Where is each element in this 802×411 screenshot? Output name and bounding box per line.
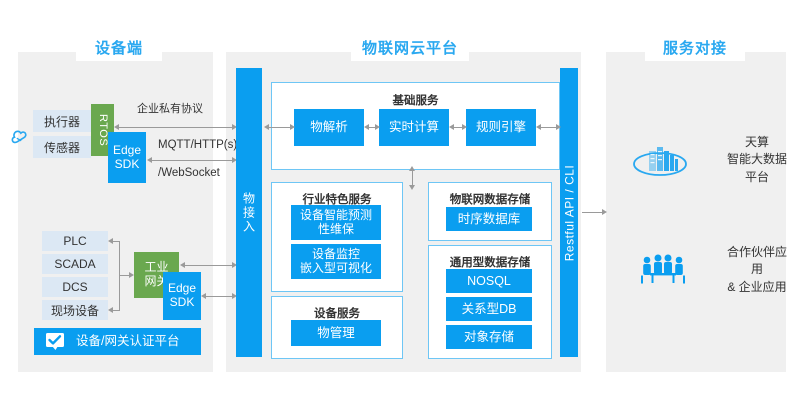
field-bracket-dev-arrow <box>108 307 113 313</box>
field-item-dcs: DCS <box>42 277 108 297</box>
general-storage-item-object: 对象存储 <box>446 325 532 349</box>
api-to-service-line <box>582 212 602 213</box>
service-entry-partners-line1: 合作伙伴应用 <box>722 244 792 279</box>
bs-arrow-2-right <box>462 124 467 130</box>
private-arrow-left <box>114 124 119 130</box>
bs-line-api <box>540 127 556 128</box>
industry-item-monitoring: 设备监控 嵌入型可视化 <box>291 244 381 279</box>
edge-sdk-top-box: Edge SDK <box>108 132 146 183</box>
bs-arrow-api-left <box>536 124 541 130</box>
auth-platform-label: 设备/网关认证平台 <box>76 334 179 348</box>
field-item-plc: PLC <box>42 231 108 251</box>
bigdata-platform-icon <box>632 142 688 180</box>
api-to-service-arrow <box>602 209 607 215</box>
field-bracket-dev-line <box>112 310 119 311</box>
protocol-mqtt-text: MQTT/HTTP(s) <box>158 139 237 151</box>
service-panel <box>606 52 786 372</box>
access-bar-label: 物接入 <box>241 192 258 234</box>
platform-panel-title: 物联网云平台 <box>351 33 469 61</box>
gateway-line-upper <box>185 265 232 266</box>
gateway-arrow-upper-left <box>180 262 185 268</box>
general-storage-title: 通用型数据存储 <box>429 254 551 270</box>
api-bar-label: Restful API / CLI <box>562 164 576 261</box>
mqtt-protocol-line <box>152 160 232 161</box>
iot-storage-title: 物联网数据存储 <box>429 191 551 207</box>
service-entry-partners-text: 合作伙伴应用 & 企业应用 <box>722 244 792 296</box>
bs-arrow-access-left <box>264 124 269 130</box>
diagram-canvas: 设备端 物联网云平台 服务对接 执行器 传感器 RTOS Edge SDK 企业… <box>0 0 802 411</box>
field-bracket-plc-arrow <box>108 238 113 244</box>
edge-sdk-top-label: Edge SDK <box>113 144 141 172</box>
cloud-icon <box>8 126 32 148</box>
field-item-scada: SCADA <box>42 254 108 274</box>
bs-to-lower-arrow-down <box>409 185 415 190</box>
device-service-item-thing-mgmt: 物管理 <box>291 320 381 346</box>
basic-service-item-rules: 规则引擎 <box>466 109 536 146</box>
bs-arrow-1-right <box>375 124 380 130</box>
gateway-line-lower <box>206 296 232 297</box>
service-entry-bigdata-line1: 天算 <box>722 134 792 151</box>
general-storage-item-rdb: 关系型DB <box>446 297 532 321</box>
device-service-title: 设备服务 <box>272 305 402 321</box>
private-protocol-line <box>119 127 232 128</box>
bs-arrow-2-left <box>449 124 454 130</box>
service-entry-bigdata-line2: 智能大数据平台 <box>722 151 792 186</box>
partners-icon <box>638 252 688 286</box>
service-entry-partners: 合作伙伴应用 & 企业应用 <box>632 248 792 292</box>
edge-sdk-bottom-box: Edge SDK <box>163 272 201 320</box>
bs-line-access <box>268 127 290 128</box>
rtos-label: RTOS <box>96 114 109 146</box>
service-entry-partners-line2: & 企业应用 <box>722 279 792 296</box>
api-bar: Restful API / CLI <box>560 68 578 357</box>
field-to-gateway-line <box>119 275 129 276</box>
basic-service-item-realtime: 实时计算 <box>379 109 449 146</box>
iot-storage-item-tsdb: 时序数据库 <box>446 207 532 231</box>
bs-arrow-api-right <box>556 124 561 130</box>
field-bracket-vline <box>119 241 120 311</box>
auth-platform-bar: 设备/网关认证平台 <box>34 328 201 355</box>
industry-item-predictive: 设备智能预测 性维保 <box>291 205 381 240</box>
basic-service-title: 基础服务 <box>272 92 559 108</box>
service-entry-bigdata-text: 天算 智能大数据平台 <box>722 134 792 186</box>
sensor-label: 传感器 <box>33 136 91 158</box>
industry-item-predictive-label: 设备智能预测 性维保 <box>300 209 372 237</box>
actuator-label: 执行器 <box>33 110 91 132</box>
industry-item-monitoring-label: 设备监控 嵌入型可视化 <box>300 248 372 276</box>
bs-arrow-access-right <box>290 124 295 130</box>
access-bar: 物接入 <box>236 68 262 357</box>
protocol-private-text: 企业私有协议 <box>137 100 203 116</box>
bs-to-lower-line <box>412 170 413 185</box>
service-entry-bigdata: 天算 智能大数据平台 <box>632 138 792 182</box>
mqtt-arrow-left <box>147 157 152 163</box>
bs-to-lower-arrow-up <box>409 166 415 171</box>
check-icon <box>46 333 64 350</box>
edge-sdk-bottom-label: Edge SDK <box>168 282 196 310</box>
service-panel-title: 服务对接 <box>645 33 745 61</box>
general-storage-item-nosql: NOSQL <box>446 269 532 293</box>
bs-arrow-1-left <box>364 124 369 130</box>
protocol-ws-text: /WebSocket <box>158 167 220 179</box>
basic-service-item-parse: 物解析 <box>294 109 364 146</box>
field-item-field-device: 现场设备 <box>42 300 108 320</box>
field-bracket-plc-line <box>112 241 119 242</box>
gateway-arrow-lower-left <box>201 293 206 299</box>
device-panel-title: 设备端 <box>76 33 162 61</box>
